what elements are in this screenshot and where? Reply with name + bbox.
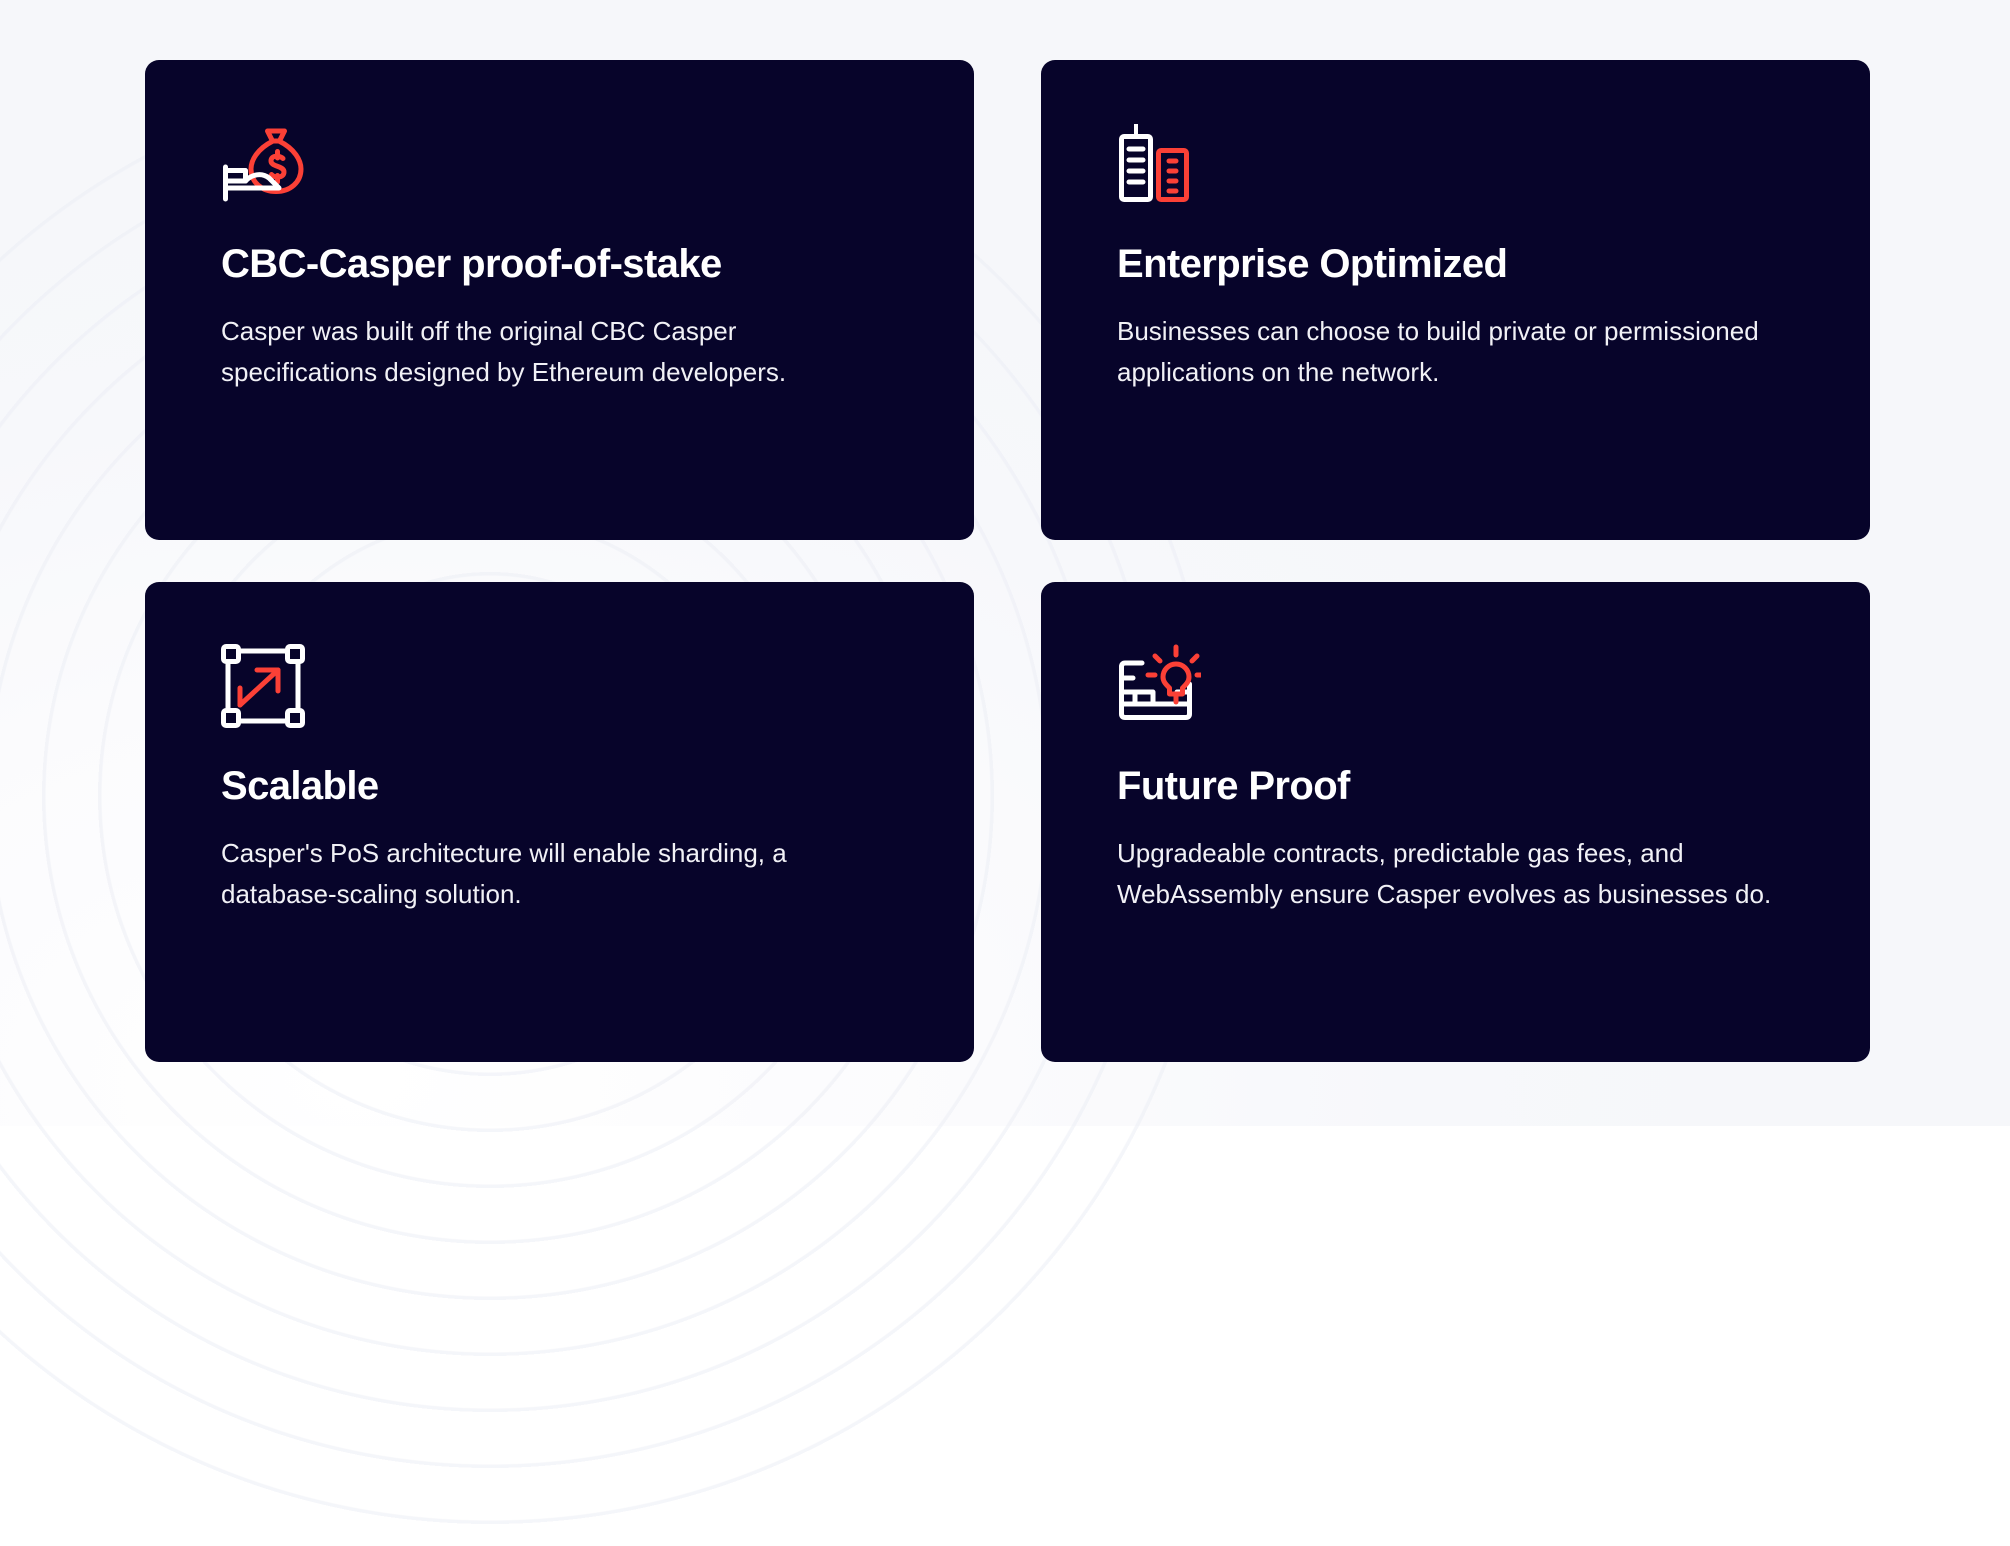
card-description: Casper's PoS architecture will enable sh… [221,833,898,915]
feature-card-enterprise-optimized[interactable]: Enterprise Optimized Businesses can choo… [1041,60,1870,540]
card-title: Future Proof [1117,764,1794,809]
blueprint-lightbulb-icon [1117,644,1201,728]
card-title: CBC-Casper proof-of-stake [221,242,898,287]
feature-card-grid: CBC-Casper proof-of-stake Casper was bui… [145,60,1870,1062]
office-buildings-icon [1117,122,1201,206]
card-description: Casper was built off the original CBC Ca… [221,311,898,393]
feature-card-scalable[interactable]: Scalable Casper's PoS architecture will … [145,582,974,1062]
feature-cards-page: CBC-Casper proof-of-stake Casper was bui… [0,0,2010,1126]
feature-card-future-proof[interactable]: Future Proof Upgradeable contracts, pred… [1041,582,1870,1062]
scale-resize-arrow-icon [221,644,305,728]
card-description: Businesses can choose to build private o… [1117,311,1794,393]
feature-card-cbc-casper[interactable]: CBC-Casper proof-of-stake Casper was bui… [145,60,974,540]
card-description: Upgradeable contracts, predictable gas f… [1117,833,1794,915]
money-bag-bed-icon [221,122,305,206]
card-title: Scalable [221,764,898,809]
card-title: Enterprise Optimized [1117,242,1794,287]
